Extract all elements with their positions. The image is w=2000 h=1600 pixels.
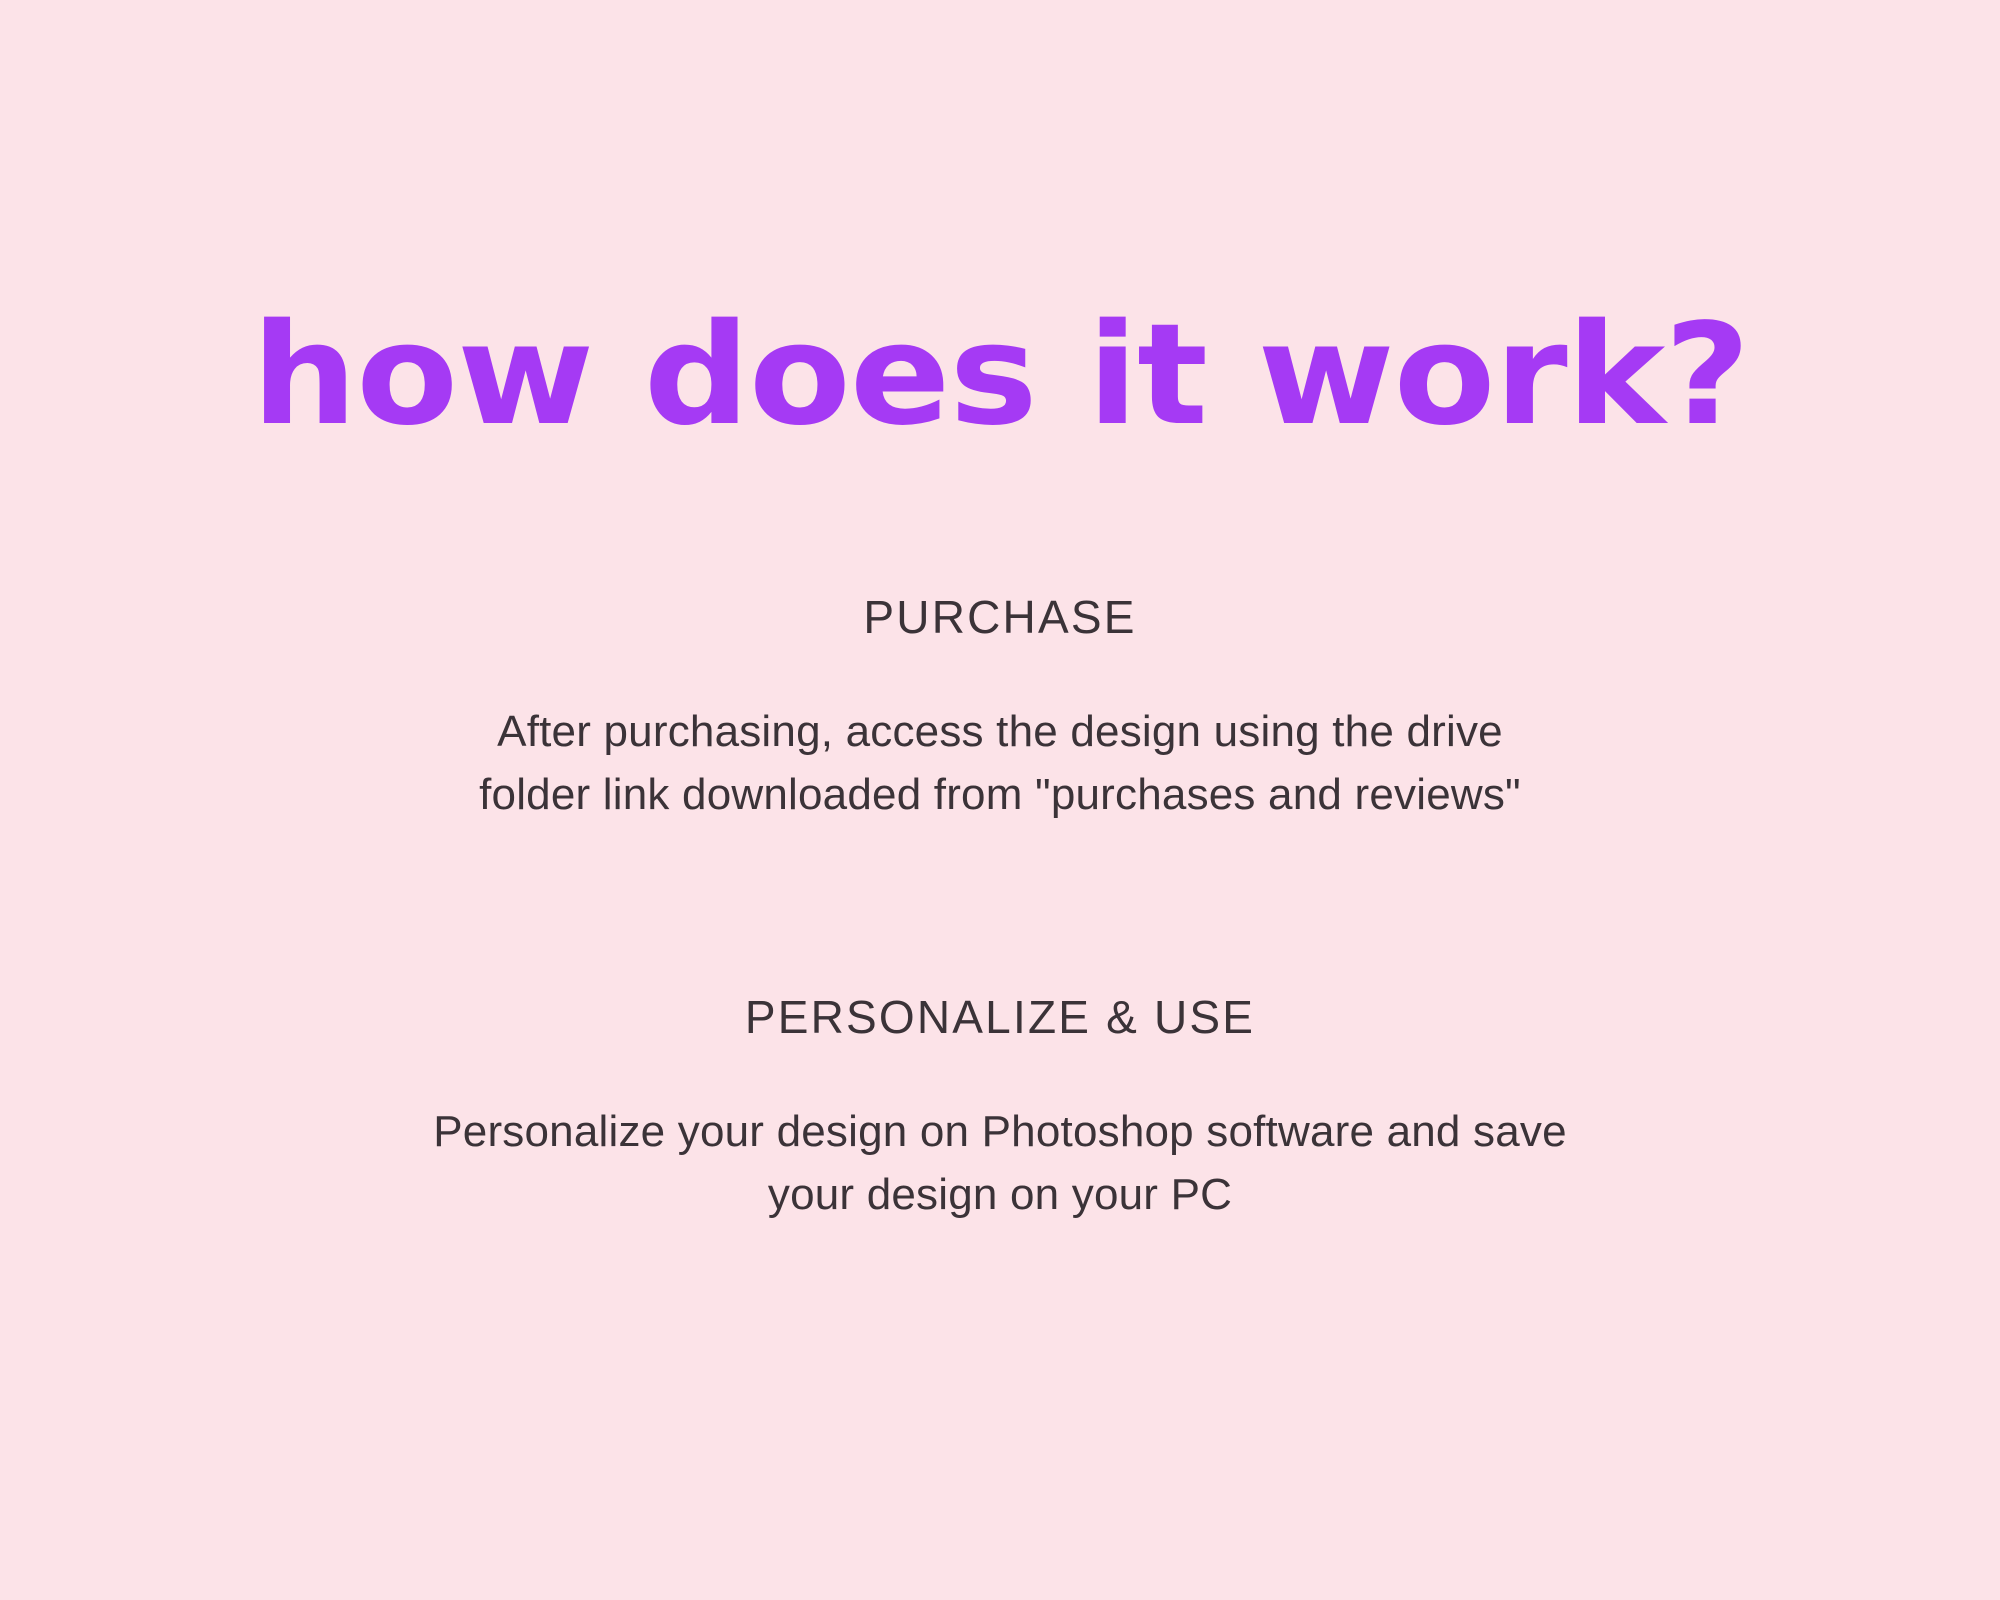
section-purchase: PURCHASE After purchasing, access the de… <box>0 590 2000 826</box>
poster-canvas: how does it work? PURCHASE After purchas… <box>0 0 2000 1600</box>
section-personalize-heading: PERSONALIZE & USE <box>0 990 2000 1045</box>
section-personalize-body: Personalize your design on Photoshop sof… <box>0 1045 2000 1226</box>
section-purchase-heading: PURCHASE <box>0 590 2000 645</box>
section-purchase-body-line: After purchasing, access the design usin… <box>0 701 2000 763</box>
section-personalize-body-line: Personalize your design on Photoshop sof… <box>0 1101 2000 1163</box>
section-personalize-body-line: your design on your PC <box>0 1164 2000 1226</box>
page-title: how does it work? <box>0 212 2000 540</box>
section-purchase-body-line: folder link downloaded from "purchases a… <box>0 764 2000 826</box>
section-purchase-body: After purchasing, access the design usin… <box>0 645 2000 826</box>
page-title-text: how does it work? <box>251 306 1749 446</box>
section-personalize: PERSONALIZE & USE Personalize your desig… <box>0 990 2000 1226</box>
